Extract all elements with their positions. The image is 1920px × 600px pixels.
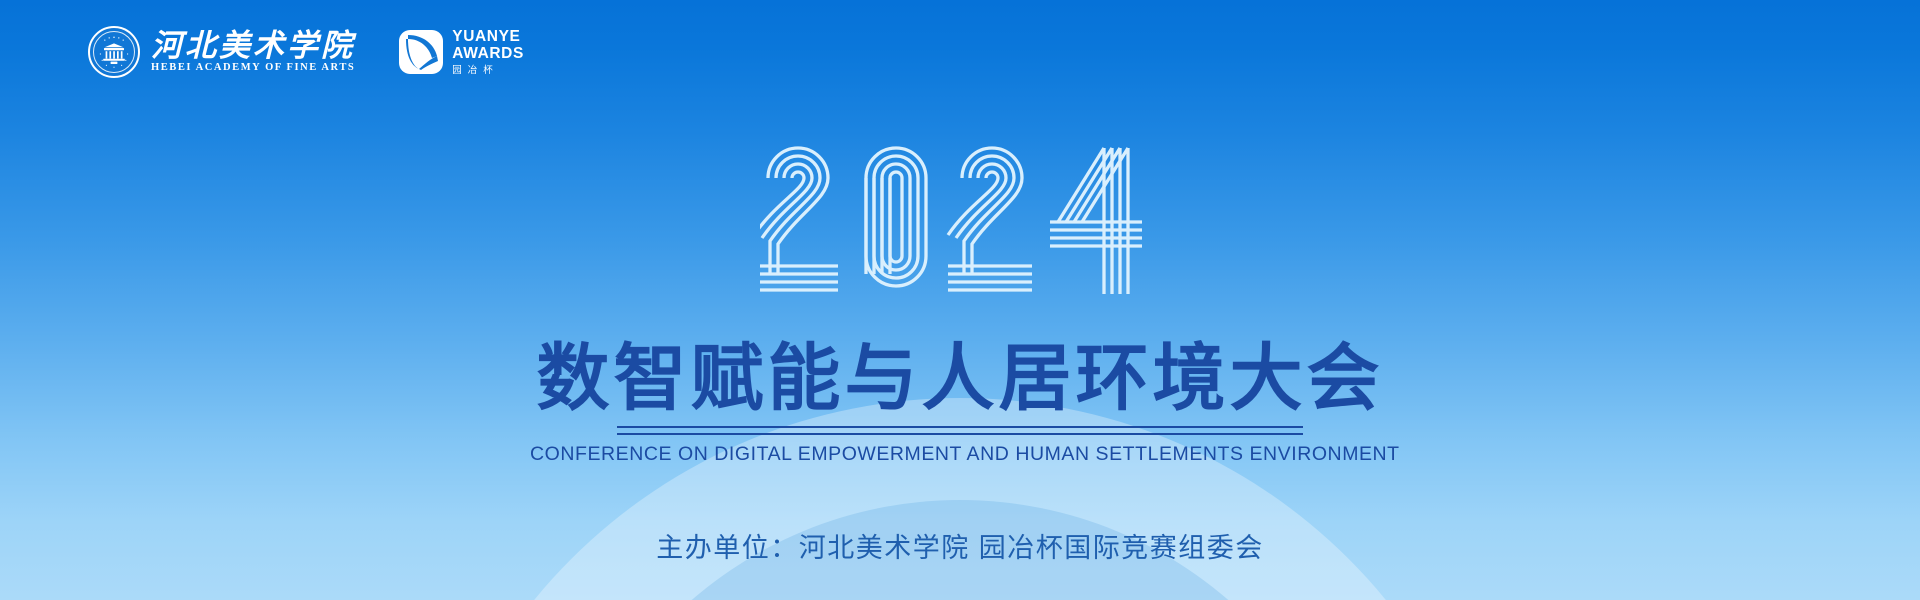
logo-row: 河北美术学院 HEBEI ACADEMY OF FINE ARTS YUANYE… xyxy=(88,26,524,78)
page-title: 数智赋能与人居环境大会 xyxy=(530,340,1390,417)
page-subtitle: CONFERENCE ON DIGITAL EMPOWERMENT AND HU… xyxy=(530,444,1390,465)
year-2024-graphic xyxy=(760,138,1160,294)
hebei-academy-wordmark: 河北美术学院 HEBEI ACADEMY OF FINE ARTS xyxy=(151,30,355,74)
yuanye-leaf-mark-icon xyxy=(399,30,443,74)
yuanye-line2: AWARDS xyxy=(452,46,524,62)
yuanye-wordmark: YUANYE AWARDS 园冶杯 xyxy=(452,29,524,76)
hebei-academy-logo[interactable]: 河北美术学院 HEBEI ACADEMY OF FINE ARTS xyxy=(88,26,355,78)
hebei-name-cn: 河北美术学院 xyxy=(151,30,355,61)
university-seal-icon xyxy=(88,26,140,78)
title-divider-rule xyxy=(617,426,1303,435)
hebei-name-en: HEBEI ACADEMY OF FINE ARTS xyxy=(151,63,355,74)
organizer-line: 主办单位：河北美术学院 园冶杯国际竞赛组委会 xyxy=(656,532,1264,564)
yuanye-name-cn: 园冶杯 xyxy=(452,66,524,76)
title-block: 数智赋能与人居环境大会 CONFERENCE ON DIGITAL EMPOWE… xyxy=(530,340,1390,466)
conference-banner: 河北美术学院 HEBEI ACADEMY OF FINE ARTS YUANYE… xyxy=(0,0,1920,600)
yuanye-awards-logo[interactable]: YUANYE AWARDS 园冶杯 xyxy=(399,29,524,76)
yuanye-line1: YUANYE xyxy=(452,29,524,45)
